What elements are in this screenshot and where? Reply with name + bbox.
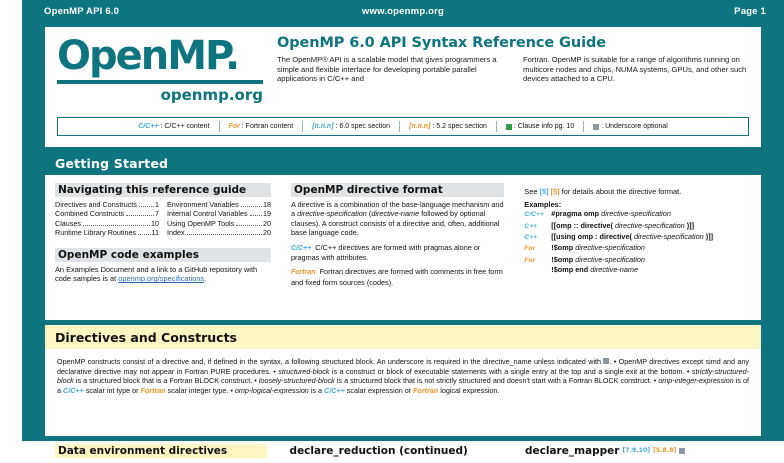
gray-swatch-icon (679, 448, 685, 454)
dc-i4: omp-integer-expression (658, 376, 733, 385)
bottom-column-headings: Data environment directives declare_redu… (45, 441, 761, 458)
toc-label: Runtime Library Routines (55, 228, 136, 237)
legend-tag-ccpp: C/C++ (138, 123, 158, 130)
legend-item-spec60: [n.n.n]: 6.0 spec section (303, 123, 399, 130)
intro-column-2: Fortran. OpenMP is suitable for a range … (523, 55, 755, 84)
tag-ccpp: C/C++ (63, 386, 84, 395)
toc-dots (236, 225, 262, 226)
example-lang-tag: C++ (524, 233, 546, 243)
toc-dots (138, 234, 150, 235)
toc-page: 20 (263, 228, 271, 237)
tag-fortran: Fortran (413, 386, 438, 395)
list-item[interactable]: Environment Variables18 (167, 200, 271, 209)
logo-underline (57, 80, 263, 84)
see-prefix: See (524, 187, 539, 196)
legend-tag-spec60: [n.n.n] (312, 123, 333, 130)
column-navigating: Navigating this reference guide Directiv… (45, 175, 281, 292)
page-background: OpenMP. openmp.org OpenMP 6.0 API Syntax… (22, 22, 784, 441)
legend-text-fortran: : Fortran content (242, 123, 293, 130)
legend-text-ccpp: : C/C++ content (160, 123, 209, 130)
heading-navigating: Navigating this reference guide (55, 183, 271, 197)
toc-label: Using OpenMP Tools (167, 219, 234, 228)
legend-item-fortran: For: Fortran content (220, 123, 303, 130)
legend-item-ccpp: C/C++: C/C++ content (129, 123, 218, 130)
bottom-column-2: declare_reduction (continued) (277, 441, 512, 458)
example-row-fortran-paired: For !$omp directive-specification !$omp … (524, 255, 751, 276)
column-directive-examples: See [5] [5] for details about the direct… (514, 175, 761, 292)
example-row-cpp-using: C++ [[using omp : directive( directive-s… (524, 232, 751, 243)
toc-label: Internal Control Variables (167, 209, 248, 218)
legend-text-clause-info: : Clause info pg. 10 (514, 123, 574, 130)
toc-page: 18 (263, 200, 271, 209)
spec-ref-52[interactable]: [5.8.8] (653, 447, 676, 454)
logo-period: . (225, 33, 238, 79)
logo-wordmark: OpenMP. (57, 33, 265, 79)
tag-ccpp: C/C++ (291, 245, 311, 252)
heading-declare-mapper: declare_mapper[7.9.10][5.8.8] (522, 444, 751, 458)
example-lang-tag: C++ (524, 222, 546, 232)
list-item[interactable]: Combined Constructs7 (55, 209, 159, 218)
list-item[interactable]: Directives and Constructs1 (55, 200, 159, 209)
example-code-plain: [[omp :: directive( (551, 221, 615, 230)
example-lang-tag: C/C++ (524, 210, 546, 220)
tag-fortran: Fortran (291, 269, 316, 276)
dc-i3: loosely-structured-block (259, 376, 335, 385)
df-fortran-text: Fortran directives are formed with comme… (291, 267, 503, 286)
getting-started-card: Getting Started Navigating this referenc… (45, 152, 761, 320)
list-item[interactable]: Internal Control Variables19 (167, 209, 271, 218)
example-code-tail: )]] (685, 221, 694, 230)
example-code-plain: !$omp (551, 255, 575, 264)
see-details-line: See [5] [5] for details about the direct… (524, 187, 751, 197)
heading-code-examples: OpenMP code examples (55, 248, 271, 262)
dc-t3: is a structured block that is not strict… (335, 376, 659, 385)
toc-column-left: Directives and Constructs1 Combined Cons… (55, 200, 159, 238)
heading-data-environment-directives: Data environment directives (55, 444, 267, 458)
masthead-card: OpenMP. openmp.org OpenMP 6.0 API Syntax… (45, 27, 761, 147)
heading-directive-format: OpenMP directive format (291, 183, 504, 197)
legend-bar: C/C++: C/C++ content For: Fortran conten… (57, 117, 749, 136)
dc-i1: structured-block (278, 367, 329, 376)
example-code-italic: directive-specification (575, 255, 645, 264)
list-item[interactable]: Using OpenMP Tools20 (167, 219, 271, 228)
spec-ref-52[interactable]: [5] (551, 187, 560, 196)
table-of-contents: Directives and Constructs1 Combined Cons… (55, 200, 271, 238)
toc-label: Clauses (55, 219, 81, 228)
spec-ref-60[interactable]: [7.9.10] (622, 447, 650, 454)
section-band-directives-constructs: Directives and Constructs (45, 325, 761, 349)
legend-tag-fortran: For (229, 123, 240, 130)
column-directive-format: OpenMP directive format A directive is a… (281, 175, 514, 292)
tag-ccpp: C/C++ (324, 386, 345, 395)
toc-page: 19 (263, 209, 271, 218)
dc-t1: is a construct or block of executable st… (329, 367, 691, 376)
toc-page: 11 (152, 228, 159, 237)
example-code-plain: #pragma omp (551, 209, 601, 218)
toc-column-right: Environment Variables18 Internal Control… (167, 200, 271, 238)
tag-fortran: Fortran (141, 386, 166, 395)
example-row-cpp-attribute: C++ [[omp :: directive( directive-specif… (524, 221, 751, 232)
dc-t9: logical expression. (438, 386, 499, 395)
openmp-logo: OpenMP. openmp.org (57, 33, 265, 111)
example-code-plain-2: !$omp end (551, 265, 590, 274)
example-code-line1: !$omp directive-specification (551, 255, 645, 265)
example-code: !$omp directive-specification (551, 243, 645, 253)
dc-t6: scalar integer type. • (166, 386, 235, 395)
toc-dots (187, 234, 262, 235)
page-header-bar: OpenMP API 6.0 www.openmp.org Page 1 (22, 0, 784, 22)
legend-tag-spec52: [n.n.n] (409, 123, 430, 130)
example-code-plain: !$omp (551, 243, 575, 252)
example-code: #pragma omp directive-specification (551, 209, 671, 219)
directives-constructs-card: Directives and Constructs OpenMP constru… (45, 325, 761, 436)
df-i1: directive-specification (297, 209, 367, 218)
example-code: [[omp :: directive( directive-specificat… (551, 221, 694, 231)
bottom-columns-card: Data environment directives declare_redu… (45, 441, 761, 463)
code-examples-text: An Examples Document and a link to a Git… (55, 265, 271, 284)
intro-column-1: The OpenMP® API is a scalable model that… (277, 55, 509, 84)
directive-examples-list: C/C++ #pragma omp directive-specificatio… (524, 209, 751, 275)
legend-text-underscore: : Underscore optional (601, 123, 668, 130)
example-code-italic: directive-specification (615, 221, 685, 230)
toc-page: 1 (155, 200, 159, 209)
openmp-specifications-link[interactable]: openmp.org/specifications (118, 274, 204, 283)
toc-label: Combined Constructs (55, 209, 124, 218)
see-suffix: for details about the directive format. (560, 187, 682, 196)
example-code: !$omp directive-specification !$omp end … (551, 255, 645, 276)
section-band-getting-started: Getting Started (45, 152, 761, 175)
dc-t5: scalar int type or (84, 386, 141, 395)
toc-page: 20 (263, 219, 271, 228)
example-code-tail: )]] (704, 232, 713, 241)
list-item[interactable]: Clauses10 (55, 219, 159, 228)
dc-t7: is a (309, 386, 324, 395)
example-row-ccpp-pragma: C/C++ #pragma omp directive-specificatio… (524, 209, 751, 220)
code-examples-text-after: . (204, 274, 206, 283)
dc-t8: scalar expression or (345, 386, 413, 395)
example-row-fortran-simple: For !$omp directive-specification (524, 243, 751, 254)
example-code: [[using omp : directive( directive-speci… (551, 232, 713, 242)
toc-page: 10 (151, 219, 159, 228)
legend-text-spec52: : 5.2 spec section (432, 123, 486, 130)
green-swatch-icon (506, 124, 512, 130)
legend-item-spec52: [n.n.n]: 5.2 spec section (400, 123, 496, 130)
gray-swatch-icon (593, 124, 599, 130)
directive-format-ccpp: C/C++ C/C++ directives are formed with p… (291, 243, 504, 263)
dc-i5: omp-logical-expression (235, 386, 309, 395)
toc-dots (83, 225, 150, 226)
spec-ref-60[interactable]: [5] (540, 187, 549, 196)
header-page-number: Page 1 (734, 6, 766, 17)
directive-format-fortran: Fortran Fortran directives are formed wi… (291, 267, 504, 287)
legend-text-spec60: : 6.0 spec section (336, 123, 390, 130)
reference-guide-page: OpenMP API 6.0 www.openmp.org Page 1 Ope… (0, 0, 784, 441)
legend-item-underscore: : Underscore optional (584, 123, 677, 130)
example-code-line2: !$omp end directive-name (551, 265, 645, 275)
toc-dots (126, 215, 154, 216)
example-code-italic: directive-specification (634, 232, 704, 241)
legend-item-clause-info: : Clause info pg. 10 (497, 123, 583, 130)
example-lang-tag: For (524, 256, 546, 266)
directive-format-paragraph: A directive is a combination of the base… (291, 200, 504, 238)
directives-constructs-paragraph: OpenMP constructs consist of a directive… (45, 349, 761, 395)
masthead-intro: The OpenMP® API is a scalable model that… (277, 55, 755, 84)
example-code-plain: [[using omp : directive( (551, 232, 634, 241)
examples-label: Examples: (524, 200, 751, 210)
logo-url: openmp.org (57, 86, 263, 104)
toc-label: Index (167, 228, 185, 237)
example-code-italic-2: directive-name (590, 265, 638, 274)
bottom-column-1: Data environment directives (45, 441, 277, 458)
list-item[interactable]: Index20 (167, 228, 271, 237)
heading-declare-mapper-label: declare_mapper (525, 445, 619, 457)
df-i2: directive-name (371, 209, 419, 218)
toc-dots (250, 215, 262, 216)
dc-t2: is a structured block that is a Fortran … (74, 376, 259, 385)
df-ccpp-text: C/C++ directives are formed with pragmas… (291, 243, 480, 262)
example-code-italic: directive-specification (575, 243, 645, 252)
toc-label: Directives and Constructs (55, 200, 137, 209)
dc-p1: OpenMP constructs consist of a directive… (57, 357, 601, 366)
example-lang-tag: For (524, 244, 546, 254)
example-code-italic: directive-specification (601, 209, 671, 218)
header-website-url[interactable]: www.openmp.org (22, 6, 784, 17)
toc-label: Environment Variables (167, 200, 239, 209)
heading-declare-reduction-continued: declare_reduction (continued) (287, 444, 502, 458)
toc-page: 7 (155, 209, 159, 218)
getting-started-columns: Navigating this reference guide Directiv… (45, 175, 761, 292)
bottom-column-3: declare_mapper[7.9.10][5.8.8] (512, 441, 761, 458)
page-title: OpenMP 6.0 API Syntax Reference Guide (277, 35, 747, 51)
toc-dots (241, 206, 262, 207)
toc-dots (139, 206, 154, 207)
list-item[interactable]: Runtime Library Routines11 (55, 228, 159, 237)
